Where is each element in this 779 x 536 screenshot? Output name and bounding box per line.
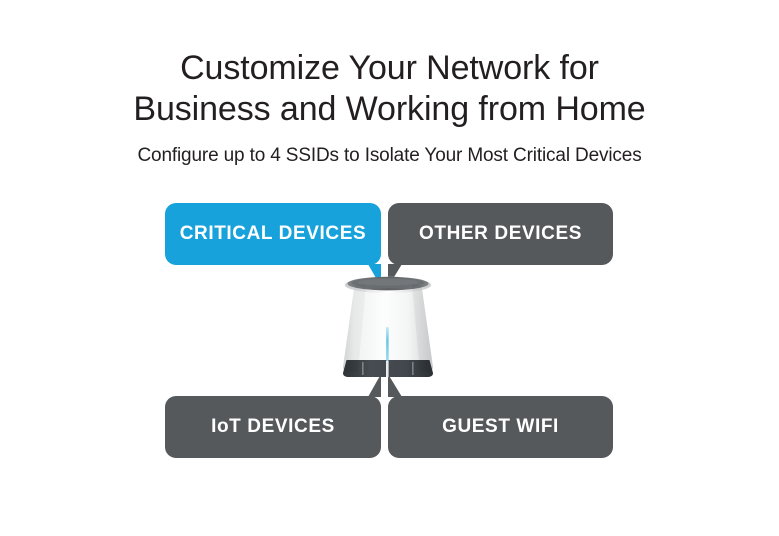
ssid-card-label: GUEST WIFI — [442, 416, 559, 438]
ssid-card-label: CRITICAL DEVICES — [180, 223, 367, 245]
promo-graphic: Customize Your Network for Business and … — [0, 0, 779, 536]
router-base-slit — [386, 361, 389, 377]
ssid-card-label: IoT DEVICES — [211, 416, 335, 438]
ssid-card-iot-devices[interactable]: IoT DEVICES — [165, 396, 381, 458]
router-base-slit — [362, 362, 364, 375]
orbi-router-illustration — [336, 272, 440, 392]
ssid-card-other-devices[interactable]: OTHER DEVICES — [388, 203, 613, 265]
router-base-slit — [412, 362, 414, 375]
router-top-sheen — [358, 279, 418, 286]
router-led-strip — [386, 327, 389, 361]
ssid-card-label: OTHER DEVICES — [419, 223, 582, 245]
ssid-diagram: CRITICAL DEVICES OTHER DEVICES IoT DEVIC… — [0, 0, 779, 536]
ssid-card-guest-wifi[interactable]: GUEST WIFI — [388, 396, 613, 458]
ssid-card-critical-devices[interactable]: CRITICAL DEVICES — [165, 203, 381, 265]
